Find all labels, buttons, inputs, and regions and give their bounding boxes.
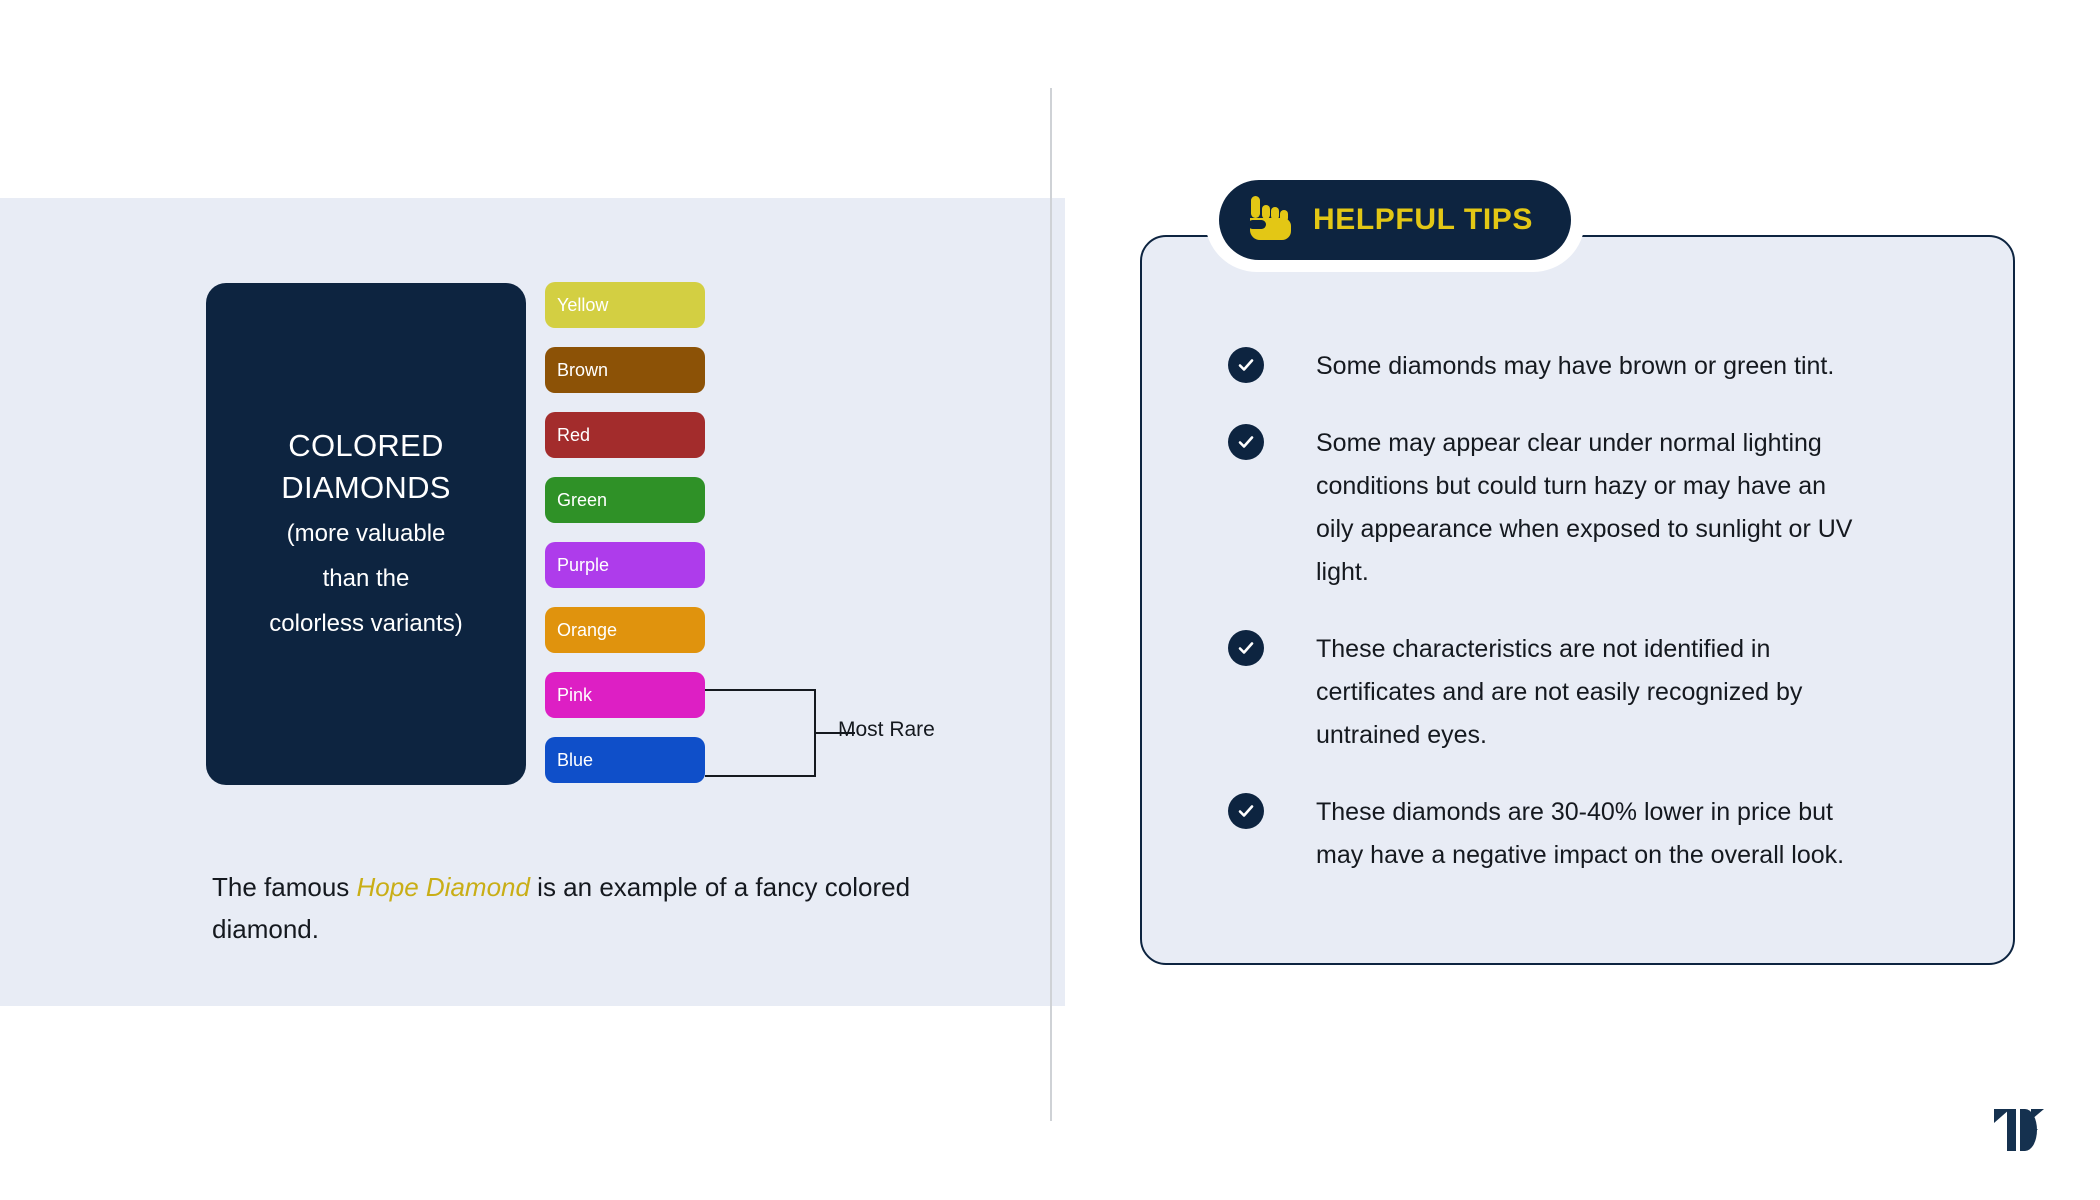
colored-diamonds-title-line2: DIAMONDS: [281, 467, 450, 509]
color-pill-pink[interactable]: Pink: [545, 672, 705, 718]
color-pill-label: Pink: [557, 685, 592, 706]
tip-text: Some may appear clear under normal light…: [1316, 422, 1868, 594]
color-pill-red[interactable]: Red: [545, 412, 705, 458]
check-glyph: [1236, 355, 1256, 375]
helpful-tips-badge: HELPFUL TIPS: [1219, 180, 1571, 260]
hope-diamond-caption: The famous Hope Diamond is an example of…: [212, 866, 952, 950]
color-pill-label: Green: [557, 490, 607, 511]
tip-text: Some diamonds may have brown or green ti…: [1316, 345, 1834, 388]
check-circle-icon: [1228, 630, 1264, 666]
caption-text-before: The famous: [212, 872, 357, 902]
colored-diamonds-subtitle-line2: than the: [323, 558, 410, 599]
color-pill-stack: Yellow Brown Red Green Purple Orange Pin…: [545, 282, 705, 802]
check-circle-icon: [1228, 793, 1264, 829]
tip-text: These diamonds are 30-40% lower in price…: [1316, 791, 1868, 877]
colored-diamonds-title-line1: COLORED: [288, 425, 443, 467]
brand-logo: [1990, 1105, 2050, 1157]
color-pill-label: Purple: [557, 555, 609, 576]
vertical-divider: [1050, 88, 1052, 1121]
colored-diamonds-subtitle-line1: (more valuable: [287, 513, 446, 554]
color-pill-label: Blue: [557, 750, 593, 771]
color-pill-purple[interactable]: Purple: [545, 542, 705, 588]
tip-item: These diamonds are 30-40% lower in price…: [1228, 791, 1868, 877]
check-glyph: [1236, 638, 1256, 658]
color-pill-label: Orange: [557, 620, 617, 641]
color-pill-blue[interactable]: Blue: [545, 737, 705, 783]
tip-item: Some diamonds may have brown or green ti…: [1228, 345, 1868, 388]
check-glyph: [1236, 801, 1256, 821]
tip-text: These characteristics are not identified…: [1316, 628, 1868, 757]
color-pill-label: Yellow: [557, 295, 608, 316]
most-rare-label: Most Rare: [838, 718, 935, 742]
color-pill-green[interactable]: Green: [545, 477, 705, 523]
helpful-tips-badge-wrapper: HELPFUL TIPS: [1205, 168, 1585, 272]
check-circle-icon: [1228, 424, 1264, 460]
color-pill-brown[interactable]: Brown: [545, 347, 705, 393]
check-glyph: [1236, 432, 1256, 452]
color-pill-label: Red: [557, 425, 590, 446]
colored-diamonds-subtitle-line3: colorless variants): [269, 603, 462, 644]
colored-diamonds-card: COLORED DIAMONDS (more valuable than the…: [206, 283, 526, 785]
tf-monogram-icon: [1990, 1105, 2050, 1157]
color-pill-orange[interactable]: Orange: [545, 607, 705, 653]
helpful-tips-title: HELPFUL TIPS: [1313, 203, 1533, 237]
tip-item: These characteristics are not identified…: [1228, 628, 1868, 757]
pointing-up-hand-icon: [1247, 194, 1293, 247]
check-circle-icon: [1228, 347, 1264, 383]
hope-diamond-highlight: Hope Diamond: [357, 872, 530, 902]
helpful-tips-list: Some diamonds may have brown or green ti…: [1228, 345, 1868, 911]
pointing-up-hand-glyph: [1247, 194, 1293, 242]
tip-item: Some may appear clear under normal light…: [1228, 422, 1868, 594]
color-pill-yellow[interactable]: Yellow: [545, 282, 705, 328]
color-pill-label: Brown: [557, 360, 608, 381]
